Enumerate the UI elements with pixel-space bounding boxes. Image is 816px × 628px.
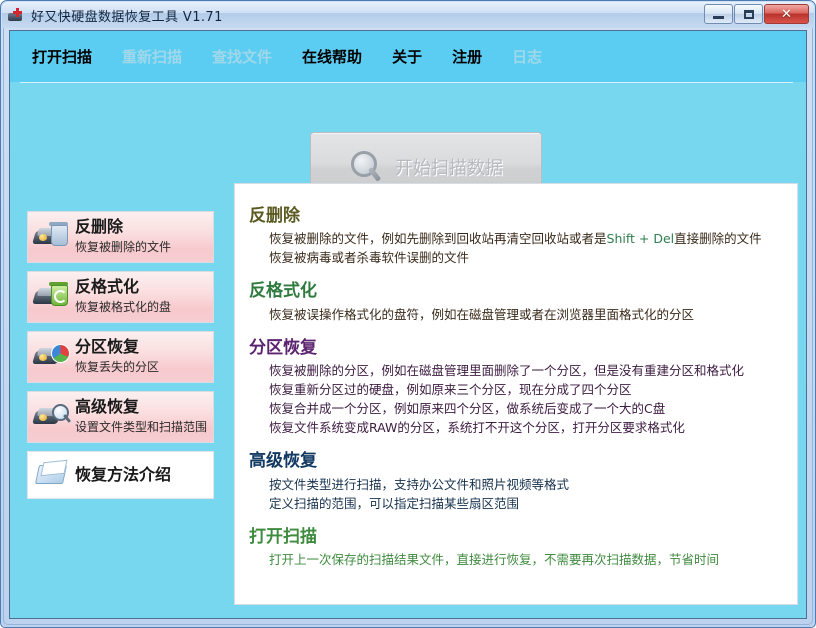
sidebar-item-title: 恢复方法介绍: [75, 467, 171, 484]
sidebar-item-recovery-guide[interactable]: 恢复方法介绍: [27, 451, 214, 499]
window-controls: ✕: [704, 4, 809, 24]
content-section-unformat: 反格式化 恢复被误操作格式化的盘符，例如在磁盘管理或者在浏览器里面格式化的分区: [249, 281, 797, 323]
main-menu-bar: 打开扫描 重新扫描 查找文件 在线帮助 关于 注册 日志: [10, 31, 806, 82]
recovery-mode-sidebar: 反删除 恢复被删除的文件 反格式化 恢复被格式化的盘: [27, 211, 227, 507]
sidebar-item-unformat[interactable]: 反格式化 恢复被格式化的盘: [27, 271, 214, 323]
disk-recycle-icon: [33, 279, 73, 315]
menu-separator: [20, 82, 793, 83]
menu-item-online-help[interactable]: 在线帮助: [302, 46, 362, 67]
menu-item-find-files[interactable]: 查找文件: [212, 46, 272, 67]
sidebar-item-title: 分区恢复: [75, 339, 159, 356]
section-line: 恢复被删除的文件，例如先删除到回收站再清空回收站或者是Shift + Del直接…: [249, 229, 797, 248]
maximize-button[interactable]: [734, 4, 763, 24]
minimize-icon: [713, 16, 724, 19]
section-title: 反格式化: [249, 281, 797, 301]
line-text: 恢复被删除的文件，例如先删除到回收站再清空回收站或者是: [269, 231, 607, 246]
line-accent: Shift + Del: [607, 231, 675, 246]
start-scan-label: 开始扫描数据: [395, 154, 503, 180]
menu-item-open-scan[interactable]: 打开扫描: [32, 46, 92, 67]
sidebar-item-partition-recovery[interactable]: 分区恢复 恢复丢失的分区: [27, 331, 214, 383]
book-icon: [33, 457, 73, 493]
menu-item-about[interactable]: 关于: [392, 46, 422, 67]
sidebar-item-title: 高级恢复: [75, 399, 207, 416]
sidebar-item-title: 反格式化: [75, 279, 171, 296]
section-title: 反删除: [249, 206, 797, 226]
minimize-button[interactable]: [704, 4, 733, 24]
application-window: 好又快硬盘数据恢复工具 V1.71 ✕ 打开扫描 重新扫描 查找文件 在线帮助 …: [0, 0, 816, 628]
client-area: 打开扫描 重新扫描 查找文件 在线帮助 关于 注册 日志 开始扫描数据: [9, 30, 807, 619]
menu-item-log[interactable]: 日志: [512, 46, 542, 67]
sidebar-item-title: 反删除: [75, 219, 171, 236]
section-title: 打开扫描: [249, 527, 797, 547]
section-line: 恢复文件系统变成RAW的分区，系统打不开这个分区，打开分区要求格式化: [249, 418, 797, 437]
sidebar-item-subtitle: 设置文件类型和扫描范围: [75, 418, 207, 435]
section-line: 定义扫描的范围，可以指定扫描某些扇区范围: [249, 494, 797, 513]
content-section-partition: 分区恢复 恢复被删除的分区，例如在磁盘管理里面删除了一个分区，但是没有重建分区和…: [249, 338, 797, 437]
line-text-post: 直接删除的文件: [674, 231, 762, 246]
magnifier-icon: [349, 150, 383, 184]
title-bar[interactable]: 好又快硬盘数据恢复工具 V1.71 ✕: [2, 2, 814, 28]
section-line: 按文件类型进行扫描，支持办公文件和照片视频等格式: [249, 475, 797, 494]
disk-partition-icon: [33, 339, 73, 375]
content-section-open-scan: 打开扫描 打开上一次保存的扫描结果文件，直接进行恢复，不需要再次扫描数据，节省时…: [249, 527, 797, 569]
section-line: 恢复重新分区过的硬盘，例如原来三个分区，现在分成了四个分区: [249, 380, 797, 399]
sidebar-item-subtitle: 恢复被删除的文件: [75, 238, 171, 255]
disk-trash-icon: [33, 219, 73, 255]
content-section-undelete: 反删除 恢复被删除的文件，例如先删除到回收站再清空回收站或者是Shift + D…: [249, 206, 797, 267]
window-title: 好又快硬盘数据恢复工具 V1.71: [31, 6, 223, 25]
section-line: 打开上一次保存的扫描结果文件，直接进行恢复，不需要再次扫描数据，节省时间: [249, 550, 797, 569]
close-button[interactable]: ✕: [764, 4, 809, 24]
disk-cross-icon: [8, 7, 25, 24]
menu-item-register[interactable]: 注册: [452, 46, 482, 67]
sidebar-item-advanced-recovery[interactable]: 高级恢复 设置文件类型和扫描范围: [27, 391, 214, 443]
close-icon: ✕: [781, 8, 792, 21]
sidebar-item-undelete[interactable]: 反删除 恢复被删除的文件: [27, 211, 214, 263]
sidebar-item-subtitle: 恢复被格式化的盘: [75, 298, 171, 315]
section-title: 分区恢复: [249, 338, 797, 358]
sidebar-item-subtitle: 恢复丢失的分区: [75, 358, 159, 375]
section-line: 恢复合并成一个分区，例如原来四个分区，做系统后变成了一个大的C盘: [249, 399, 797, 418]
section-line: 恢复被删除的分区，例如在磁盘管理里面删除了一个分区，但是没有重建分区和格式化: [249, 361, 797, 380]
section-line: 恢复被误操作格式化的盘符，例如在磁盘管理或者在浏览器里面格式化的分区: [249, 305, 797, 324]
recovery-guide-panel: 反删除 恢复被删除的文件，例如先删除到回收站再清空回收站或者是Shift + D…: [234, 183, 798, 605]
menu-item-rescan[interactable]: 重新扫描: [122, 46, 182, 67]
disk-search-icon: [33, 399, 73, 435]
content-section-advanced: 高级恢复 按文件类型进行扫描，支持办公文件和照片视频等格式 定义扫描的范围，可以…: [249, 451, 797, 512]
section-title: 高级恢复: [249, 451, 797, 471]
section-line: 恢复被病毒或者杀毒软件误删的文件: [249, 248, 797, 267]
maximize-icon: [744, 10, 754, 19]
